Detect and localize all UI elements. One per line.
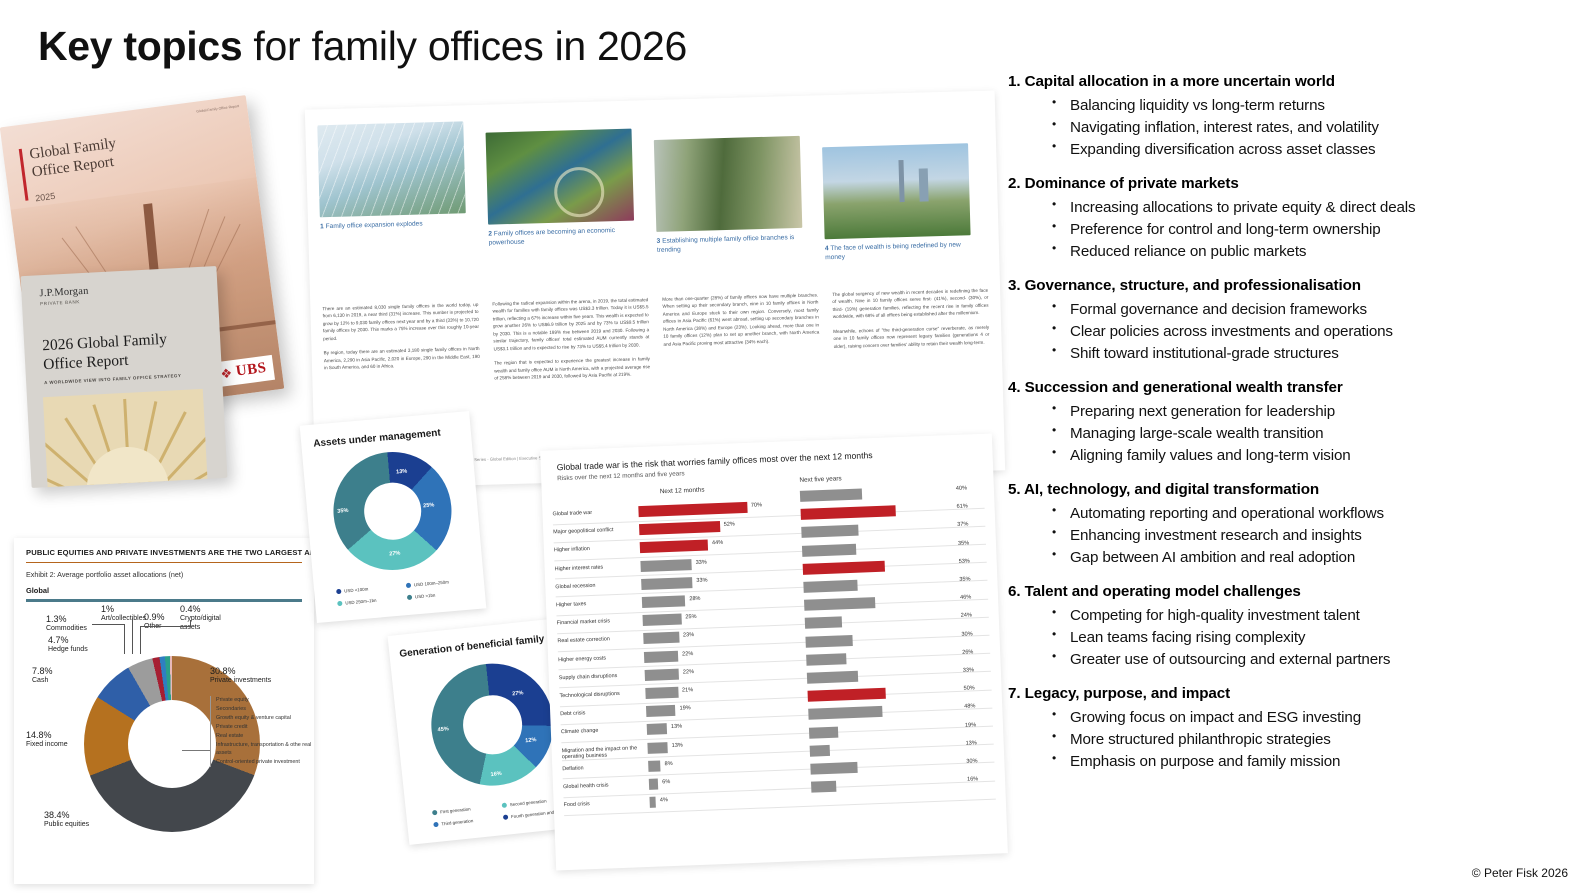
topic-bullet: Lean teams facing rising complexity — [1050, 627, 1568, 649]
bar-value-5y: 53% — [959, 558, 970, 564]
bar-row-label: Technological disruptions — [559, 690, 637, 699]
topic-bullet: Clear policies across investments and op… — [1050, 321, 1568, 343]
bar-row-label: Higher energy costs — [558, 654, 636, 663]
bar-row-label: Global trade war — [552, 508, 630, 517]
bar-row-label: Global recession — [555, 581, 633, 590]
bar-value-5y: 35% — [959, 576, 970, 582]
report-collage: Global Family Office Report 2025 Global … — [0, 96, 1000, 886]
pie-value-public-equities: 38.4% — [44, 810, 89, 821]
jpmorgan-sub-wordmark: PRIVATE BANK — [40, 299, 80, 306]
topic-heading: 4. Succession and generational wealth tr… — [1008, 378, 1568, 399]
copyright-notice: © Peter Fisk 2026 — [1472, 866, 1568, 880]
source-line: FHS Series - Global Edition | Executive … — [465, 455, 548, 462]
page-title: Key topics for family offices in 2026 — [38, 24, 687, 69]
bar-value-12m: 6% — [662, 779, 670, 785]
thumbnail-caption-1: 1 Family office expansion explodes — [320, 218, 466, 231]
divider — [26, 599, 302, 602]
photo-thumbnail-row: 1 Family office expansion explodes 2 Fam… — [317, 107, 987, 277]
topic-heading: 7. Legacy, purpose, and impact — [1008, 684, 1568, 705]
ubs-cover-corner-note: Global Family Office Report — [196, 104, 239, 114]
thumbnail-3[interactable]: 3 Establishing multiple family office br… — [654, 136, 804, 267]
topic-bullet: Emphasis on purpose and family mission — [1050, 751, 1568, 773]
thumbnail-caption-text-4: The face of wealth is being redefined by… — [825, 241, 961, 261]
aum-value-0: 13% — [396, 469, 408, 476]
leader-line — [182, 750, 210, 751]
generation-chart-title: Generation of beneficial family — [399, 634, 545, 660]
generation-legend-1: Second generation — [502, 798, 547, 808]
page-title-bold: Key topics — [38, 23, 242, 69]
pie-name-private-investments: Private investments — [210, 677, 271, 684]
paragraph: The global surgency of new wealth in rec… — [832, 287, 989, 321]
aum-value-3: 35% — [337, 508, 349, 515]
glass-atrium-photo — [317, 121, 466, 217]
topic-6: 6. Talent and operating model challenges… — [1008, 582, 1568, 671]
bar-value-5y: 33% — [963, 667, 974, 673]
bar-row-label: Climate change — [561, 727, 639, 736]
bar-value-12m: 33% — [696, 577, 707, 583]
bar-value-5y: 35% — [958, 540, 969, 546]
bar-value-5y: 24% — [961, 613, 972, 619]
bar-12m — [649, 779, 659, 790]
bar-value-12m: 70% — [751, 502, 762, 508]
leader-line — [132, 618, 133, 654]
topic-bullet: Shift toward institutional-grade structu… — [1050, 343, 1568, 365]
risks-chart-title: Global trade war is the risk that worrie… — [557, 450, 873, 472]
bar-value-12m: 44% — [712, 540, 723, 546]
pie-label-crypto: 0.4% Crypto/digital assets — [180, 604, 228, 632]
exhibit-region: Global — [26, 586, 302, 595]
pie-value-hedge-funds: 4.7% — [48, 635, 88, 646]
bar-12m — [642, 614, 681, 626]
generation-value-3: 45% — [437, 726, 449, 733]
aum-value-2: 27% — [389, 551, 401, 558]
bar-5y — [808, 706, 883, 720]
topic-bullet: Preparing next generation for leadership — [1050, 401, 1568, 423]
thumbnail-caption-text-3: Establishing multiple family office bran… — [657, 234, 795, 254]
bar-12m — [648, 760, 661, 771]
aerial-river-photo — [654, 136, 803, 232]
bar-value-12m: 19% — [679, 705, 690, 711]
thumbnail-caption-text-2: Family offices are becoming an economic … — [489, 227, 616, 247]
list-item: Growth equity & venture capital — [216, 714, 314, 723]
leader-line — [140, 626, 190, 627]
bar-value-12m: 25% — [685, 614, 696, 620]
bar-row-label: Real estate correction — [557, 636, 635, 645]
list-item: Private equity — [216, 696, 314, 705]
list-item: Private credit — [216, 723, 314, 732]
topic-2: 2. Dominance of private marketsIncreasin… — [1008, 174, 1568, 263]
paragraph: Meanwhile, echoes of "the third-generati… — [833, 323, 990, 350]
bar-row-label: Higher interest rates — [555, 563, 633, 572]
bar-5y — [808, 688, 886, 702]
bar-row-label: Supply chain disruptions — [559, 672, 637, 681]
topic-bullet: Increasing allocations to private equity… — [1050, 197, 1568, 219]
bar-row-label: Financial market crisis — [557, 618, 635, 627]
bar-row-label: Major geopolitical conflict — [553, 527, 631, 536]
topic-bullet: More structured philanthropic strategies — [1050, 729, 1568, 751]
aum-legend-1: USD 100m–250m — [406, 579, 449, 588]
paragraph: There are an estimated 8,030 single fami… — [322, 301, 479, 343]
thumbnail-number-3: 3 — [657, 238, 661, 245]
bar-12m — [641, 577, 693, 590]
topics-list: 1. Capital allocation in a more uncertai… — [1008, 72, 1568, 787]
topic-bullet-list: Increasing allocations to private equity… — [1008, 197, 1568, 264]
thumbnail-number-4: 4 — [825, 245, 829, 252]
accent-bar — [19, 149, 28, 201]
bar-value-12m: 52% — [724, 522, 735, 528]
paragraph: By region, today there are an estimated … — [324, 345, 481, 372]
risks-chart-subtitle: Risks over the next 12 months and five y… — [557, 470, 685, 482]
bar-12m — [638, 502, 747, 517]
bar-value-5y: 46% — [960, 595, 971, 601]
generation-legend-0: First generation — [432, 806, 471, 815]
pie-value-art-collectibles: 1% — [101, 604, 147, 615]
generation-value-0: 27% — [512, 690, 524, 697]
topic-bullet: Enhancing investment research and insigh… — [1050, 525, 1568, 547]
article-body-columns: There are an estimated 8,030 single fami… — [322, 287, 996, 394]
topic-bullet: Preference for control and long-term own… — [1050, 219, 1568, 241]
bar-12m — [646, 705, 676, 717]
topic-bullet: Reduced reliance on public markets — [1050, 241, 1568, 263]
exhibit-caption: Exhibit 2: Average portfolio asset alloc… — [26, 570, 302, 579]
thumbnail-caption-2: 2 Family offices are becoming an economi… — [488, 226, 634, 249]
bar-12m — [647, 742, 668, 754]
bar-value-5y: 16% — [967, 776, 978, 782]
jpm-cover-title: 2026 Global Family Office Report — [42, 331, 169, 375]
topic-bullet: Gap between AI ambition and real adoptio… — [1050, 547, 1568, 569]
bar-value-5y: 50% — [963, 686, 974, 692]
bar-value-12m: 33% — [696, 559, 707, 565]
bar-value-12m: 13% — [671, 724, 682, 730]
jpm-cover-tagline: A WORLDWIDE VIEW INTO FAMILY OFFICE STRA… — [44, 372, 204, 385]
pie-value-private-investments: 30.8% — [210, 666, 271, 677]
bar-value-5y: 40% — [956, 485, 967, 491]
risks-bar-chart-card: Global trade war is the risk that worrie… — [540, 433, 1008, 870]
bar-row-label: Food crisis — [564, 799, 642, 808]
topic-bullet: Balancing liquidity vs long-term returns — [1050, 95, 1568, 117]
topic-5: 5. AI, technology, and digital transform… — [1008, 480, 1568, 569]
pie-label-cash: 7.8% Cash — [32, 666, 53, 686]
risks-series-header-5y: Next five years — [799, 475, 842, 484]
bar-value-5y: 19% — [965, 722, 976, 728]
bar-5y — [800, 489, 862, 502]
bar-value-5y: 13% — [966, 740, 977, 746]
topic-bullet-list: Automating reporting and operational wor… — [1008, 503, 1568, 570]
topic-7: 7. Legacy, purpose, and impactGrowing fo… — [1008, 684, 1568, 773]
bar-row-label: Deflation — [562, 763, 640, 772]
bar-5y — [802, 543, 857, 556]
topic-bullet-list: Growing focus on impact and ESG investin… — [1008, 707, 1568, 774]
thumbnail-2[interactable]: 2 Family offices are becoming an economi… — [486, 129, 636, 272]
jpmorgan-exhibit-sheet: PUBLIC EQUITIES AND PRIVATE INVESTMENTS … — [14, 538, 314, 884]
bar-value-5y: 61% — [956, 504, 967, 510]
topic-bullet: Aligning family values and long-term vis… — [1050, 445, 1568, 467]
leader-line — [92, 624, 124, 625]
topic-heading: 2. Dominance of private markets — [1008, 174, 1568, 195]
jpm-cover-title-line1: 2026 Global Family — [42, 331, 168, 355]
topic-bullet-list: Balancing liquidity vs long-term returns… — [1008, 95, 1568, 162]
pie-name-public-equities: Public equities — [44, 821, 89, 828]
pie-value-commodities: 1.3% — [46, 614, 87, 625]
ubs-cover-year: 2025 — [35, 191, 56, 204]
pie-label-private-investments: 30.8% Private investments — [210, 666, 271, 686]
thumbnail-4[interactable]: 4 The face of wealth is being redefined … — [822, 143, 971, 262]
thumbnail-caption-4: 4 The face of wealth is being redefined … — [825, 240, 971, 263]
bar-value-12m: 21% — [682, 687, 693, 693]
leader-line — [140, 626, 141, 654]
bar-row-label: Debt crisis — [560, 708, 638, 717]
bar-value-5y: 30% — [961, 631, 972, 637]
generation-value-1: 12% — [525, 737, 537, 744]
bar-value-12m: 23% — [683, 632, 694, 638]
bar-12m — [649, 797, 656, 808]
aum-legend-3: USD >1bn — [407, 593, 436, 600]
leader-line — [124, 624, 125, 654]
aum-chart-title: Assets under management — [313, 428, 441, 450]
topic-bullet: Automating reporting and operational wor… — [1050, 503, 1568, 525]
bar-value-12m: 28% — [689, 596, 700, 602]
bar-row-label: Higher taxes — [556, 599, 634, 608]
risks-series-header-12m: Next 12 months — [660, 487, 705, 496]
bar-5y — [801, 505, 896, 520]
bar-value-12m: 13% — [672, 742, 683, 748]
topic-heading: 1. Capital allocation in a more uncertai… — [1008, 72, 1568, 93]
topic-bullet: Greater use of outsourcing and external … — [1050, 649, 1568, 671]
topic-bullet: Navigating inflation, interest rates, an… — [1050, 117, 1568, 139]
bar-12m — [639, 521, 720, 535]
topic-bullet-list: Preparing next generation for leadership… — [1008, 401, 1568, 468]
jpm-cover-title-line2: Office Report — [43, 351, 129, 372]
pie-label-public-equities: 38.4% Public equities — [44, 810, 89, 830]
leader-line — [190, 620, 191, 627]
bar-value-5y: 48% — [964, 704, 975, 710]
paragraph: Following the radical expansion within t… — [492, 296, 649, 352]
topic-bullet: Managing large-scale wealth transition — [1050, 423, 1568, 445]
ubs-cover-title: Global Family Office Report — [28, 135, 119, 183]
jpmorgan-wordmark: J.P.Morgan — [39, 286, 89, 300]
bar-row-label: Higher inflation — [554, 545, 632, 554]
topic-heading: 5. AI, technology, and digital transform… — [1008, 480, 1568, 501]
page-title-rest: for family offices in 2026 — [242, 23, 687, 69]
divider — [26, 562, 302, 563]
ubs-wordmark: UBS — [235, 360, 268, 381]
article-column-4: The global surgency of new wealth in rec… — [832, 287, 990, 380]
article-column-2: Following the radical expansion within t… — [492, 296, 650, 389]
bar-12m — [645, 668, 679, 680]
pie-name-fixed-income: Fixed income — [26, 741, 68, 748]
aerial-garden-photo — [486, 129, 635, 225]
bar-value-5y: 30% — [966, 758, 977, 764]
article-column-3: More than one-quarter (28%) of family of… — [662, 291, 820, 384]
pie-label-art-collectibles: 1% Art/collectibles — [101, 604, 147, 624]
pie-value-other: 0.9% — [144, 612, 165, 623]
pie-name-cash: Cash — [32, 677, 48, 684]
bar-12m — [642, 595, 686, 608]
bar-5y — [809, 726, 839, 738]
bar-5y — [807, 671, 859, 684]
bar-12m — [643, 632, 679, 644]
aum-legend-0: USD <100m — [336, 586, 368, 594]
pie-name-art-collectibles: Art/collectibles — [101, 615, 146, 622]
fan-architecture-photo — [43, 389, 208, 488]
aum-value-1: 25% — [423, 502, 435, 509]
pie-name-crypto: Crypto/digital assets — [180, 615, 221, 631]
bar-5y — [801, 525, 859, 538]
generation-legend-2: Third generation — [433, 818, 473, 827]
bar-5y — [806, 653, 847, 666]
dubai-skyline-photo — [822, 143, 971, 239]
bar-5y — [810, 745, 831, 757]
bar-row-label: Global health crisis — [563, 781, 641, 790]
pie-value-crypto: 0.4% — [180, 604, 228, 615]
thumbnail-caption-3: 3 Establishing multiple family office br… — [657, 233, 803, 256]
paragraph: More than one-quarter (28%) of family of… — [662, 291, 819, 347]
bar-5y — [811, 781, 836, 793]
bar-12m — [645, 687, 678, 699]
thumbnail-number-1: 1 — [320, 223, 324, 230]
exhibit-headline: PUBLIC EQUITIES AND PRIVATE INVESTMENTS … — [26, 548, 302, 557]
bar-12m — [640, 559, 692, 572]
topic-heading: 3. Governance, structure, and profession… — [1008, 276, 1568, 297]
bar-5y — [805, 617, 843, 629]
pie-name-commodities: Commodities — [46, 625, 87, 632]
aum-donut-card: Assets under management 13% 25% 27% 35% … — [300, 411, 487, 623]
topic-bullet: Growing focus on impact and ESG investin… — [1050, 707, 1568, 729]
pie-name-hedge-funds: Hedge funds — [48, 646, 88, 653]
bar-5y — [805, 635, 852, 648]
pie-label-hedge-funds: 4.7% Hedge funds — [48, 635, 88, 655]
bar-12m — [647, 724, 668, 736]
pie-label-commodities: 1.3% Commodities — [46, 614, 87, 634]
bar-5y — [803, 560, 886, 574]
topic-bullet-list: Formal governance and decision framework… — [1008, 299, 1568, 366]
topic-3: 3. Governance, structure, and profession… — [1008, 276, 1568, 365]
jpmorgan-report-cover[interactable]: J.P.Morgan PRIVATE BANK 2026 Global Fami… — [21, 266, 228, 488]
bar-value-5y: 37% — [957, 522, 968, 528]
list-item: Control-oriented private investment — [216, 758, 314, 767]
topic-bullet: Formal governance and decision framework… — [1050, 299, 1568, 321]
thumbnail-number-2: 2 — [488, 231, 492, 238]
topic-4: 4. Succession and generational wealth tr… — [1008, 378, 1568, 467]
topic-heading: 6. Talent and operating model challenges — [1008, 582, 1568, 603]
bar-5y — [810, 762, 857, 775]
bar-value-12m: 22% — [683, 669, 694, 675]
generation-value-2: 16% — [490, 771, 502, 778]
pie-value-cash: 7.8% — [32, 666, 53, 677]
bar-5y — [803, 580, 858, 593]
bar-12m — [640, 540, 709, 554]
topic-bullet: Competing for high-quality investment ta… — [1050, 605, 1568, 627]
private-investments-sublist: Private equity Secondaries Growth equity… — [210, 696, 314, 767]
bar-value-12m: 4% — [660, 797, 668, 803]
bar-5y — [804, 597, 876, 611]
bar-12m — [644, 650, 678, 662]
list-item: Real estate — [216, 732, 314, 741]
thumbnail-1[interactable]: 1 Family office expansion explodes — [317, 121, 467, 276]
topic-1: 1. Capital allocation in a more uncertai… — [1008, 72, 1568, 161]
pie-label-other: 0.9% Other — [144, 612, 165, 632]
paragraph: The region that is expected to experienc… — [494, 355, 651, 382]
article-column-1: There are an estimated 8,030 single fami… — [322, 301, 480, 394]
pie-value-fixed-income: 14.8% — [26, 730, 72, 741]
list-item: Infrastructure, transportation & othe re… — [216, 741, 314, 759]
thumbnail-caption-text-1: Family office expansion explodes — [326, 220, 423, 230]
pie-label-fixed-income: 14.8% Fixed income — [26, 730, 72, 750]
aum-legend-2: USD 250m–1bn — [337, 598, 377, 606]
bar-value-12m: 8% — [664, 761, 672, 767]
list-item: Secondaries — [216, 705, 314, 714]
topic-bullet-list: Competing for high-quality investment ta… — [1008, 605, 1568, 672]
bar-value-5y: 26% — [962, 649, 973, 655]
topic-bullet: Expanding diversification across asset c… — [1050, 139, 1568, 161]
bar-value-12m: 22% — [682, 651, 693, 657]
